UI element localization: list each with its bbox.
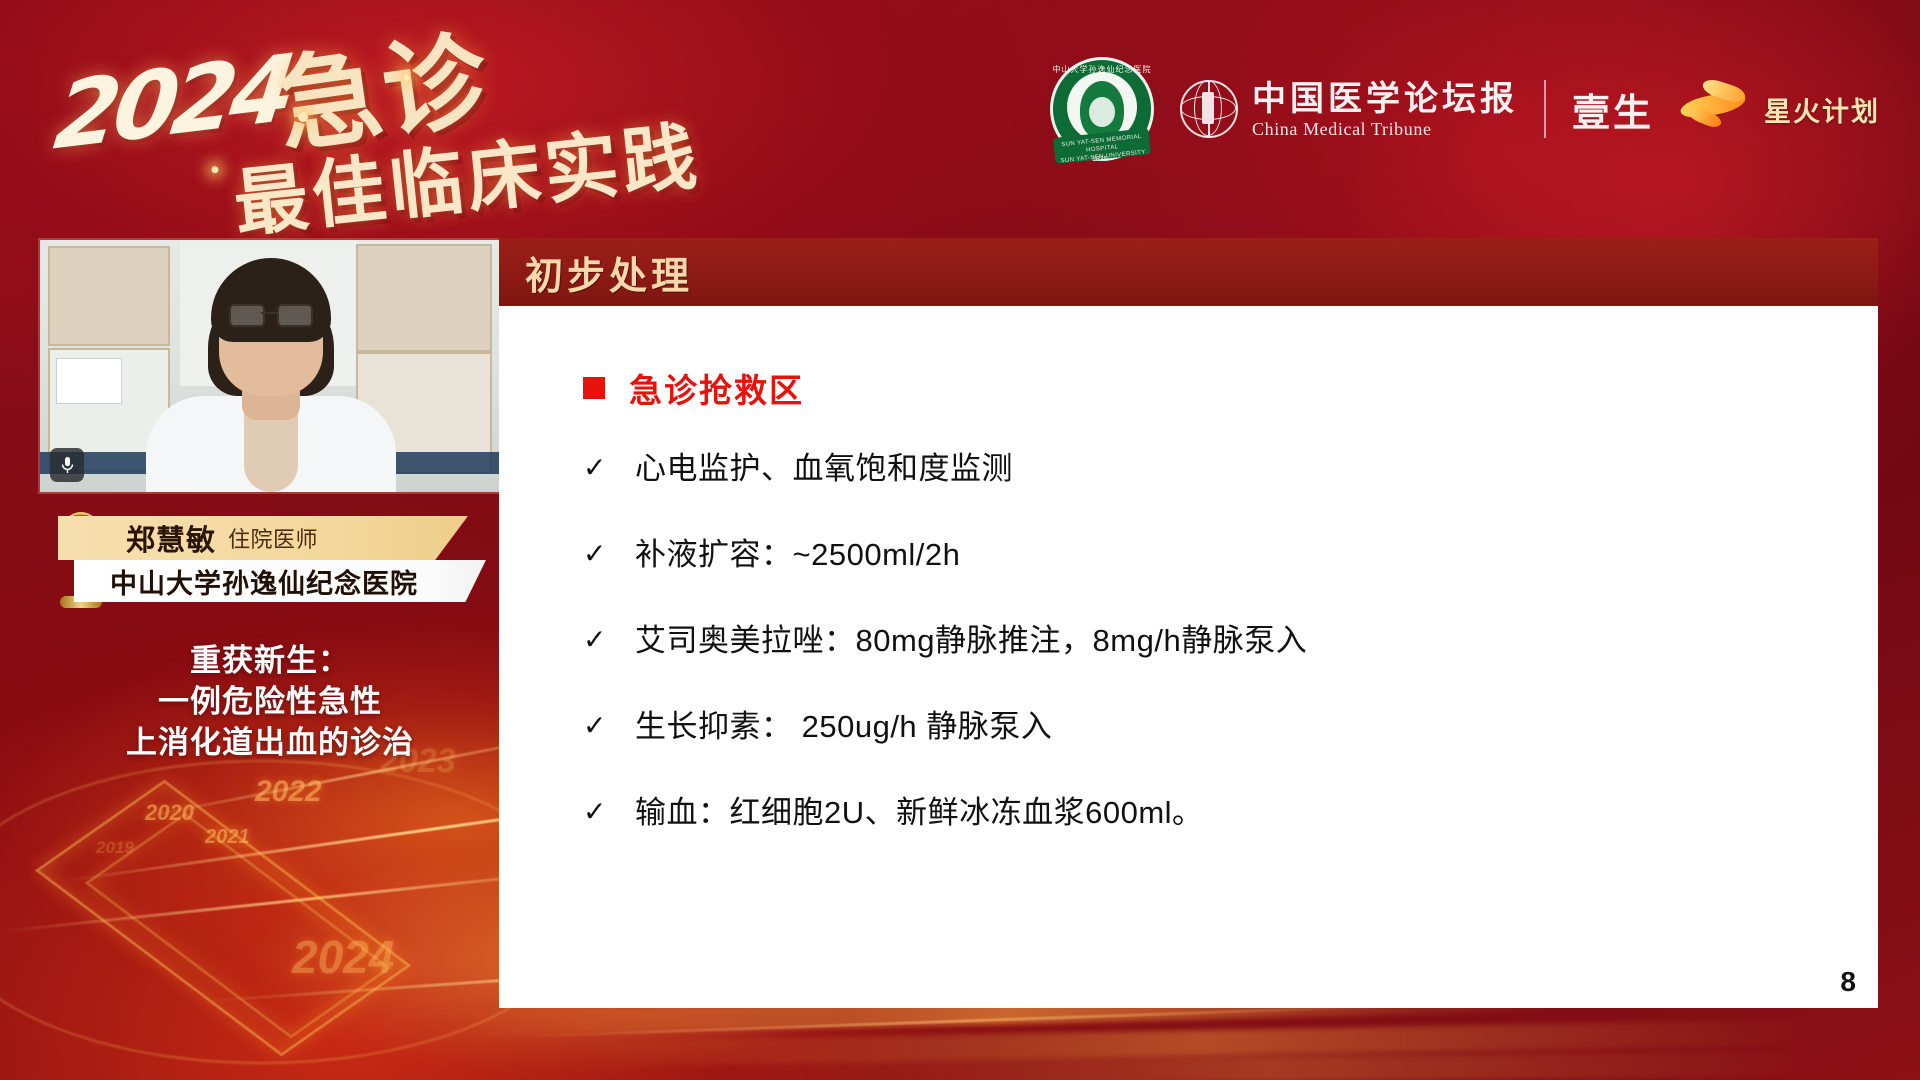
year-mark-2021: 2021	[205, 826, 250, 849]
year-mark-2024: 2024	[292, 930, 394, 984]
list-item-text: 输血：红细胞2U、新鲜冰冻血浆600ml。	[635, 794, 1204, 832]
year-mark-2022: 2022	[255, 775, 322, 809]
speaker-figure	[146, 282, 396, 492]
list-item-text: 补液扩容：~2500ml/2h	[635, 536, 960, 574]
speaker-hospital-plate: 中山大学孙逸仙纪念医院	[74, 560, 486, 602]
key-visual-logo: 2024 急诊 最佳临床实践	[42, 0, 734, 237]
slide-page-number: 8	[1840, 966, 1856, 998]
slide-content: 急诊抢救区 ✓ 心电监护、血氧饱和度监测 ✓ 补液扩容：~2500ml/2h ✓…	[499, 306, 1878, 1008]
partner-logo-cluster: 中山大学孙逸仙纪念医院 SUN YAT-SEN MEMORIAL HOSPITA…	[1050, 56, 1880, 162]
list-item: ✓ 生长抑素： 250ug/h 静脉泵入	[583, 708, 1838, 746]
xinghuo-plan-logo: 星火计划	[1680, 81, 1880, 137]
list-item: ✓ 艾司奥美拉唑：80mg静脉推注，8mg/h静脉泵入	[583, 622, 1838, 660]
list-item-text: 心电监护、血氧饱和度监测	[635, 450, 1013, 488]
china-medical-tribune-logo: 中国医学论坛报 China Medical Tribune	[1180, 79, 1518, 140]
slide-section-heading: 急诊抢救区	[583, 364, 1838, 412]
checkmark-icon: ✓	[583, 794, 609, 830]
speaker-video-feed[interactable]	[40, 240, 502, 492]
list-item-text: 艾司奥美拉唑：80mg静脉推注，8mg/h静脉泵入	[635, 622, 1307, 660]
square-bullet-icon	[583, 377, 605, 399]
slide-section-label: 急诊抢救区	[629, 364, 804, 412]
microphone-icon[interactable]	[50, 448, 84, 482]
checkmark-icon: ✓	[583, 450, 609, 486]
globe-icon	[1180, 80, 1238, 138]
speaker-name: 郑慧敏	[126, 517, 216, 559]
yisheng-logo: 壹生	[1572, 82, 1654, 137]
year-mark-2019: 2019	[96, 838, 134, 858]
list-item: ✓ 输血：红细胞2U、新鲜冰冻血浆600ml。	[583, 794, 1838, 832]
slide-header-bar: 初步处理	[499, 238, 1878, 306]
checkmark-icon: ✓	[583, 622, 609, 658]
flying-bird-icon	[1680, 81, 1754, 137]
speaker-name-plate: 郑慧敏 住院医师	[58, 516, 468, 560]
list-item-text: 生长抑素： 250ug/h 静脉泵入	[635, 708, 1052, 746]
cmt-name-cn: 中国医学论坛报	[1252, 79, 1518, 119]
xinghuo-label: 星火计划	[1764, 90, 1880, 129]
talk-title-line1: 重获新生：	[40, 640, 500, 681]
speaker-role: 住院医师	[228, 522, 318, 554]
logo-divider	[1544, 80, 1546, 138]
presentation-slide[interactable]: 初步处理 急诊抢救区 ✓ 心电监护、血氧饱和度监测 ✓ 补液扩容：~2500ml…	[499, 238, 1878, 1008]
sparkle-icon	[211, 166, 218, 173]
slide-header-title: 初步处理	[525, 245, 693, 300]
seal-year-text: 1835	[1092, 156, 1108, 163]
list-item: ✓ 补液扩容：~2500ml/2h	[583, 536, 1838, 574]
cmt-name-en: China Medical Tribune	[1252, 119, 1518, 140]
speaker-hospital: 中山大学孙逸仙纪念医院	[110, 562, 418, 601]
talk-title: 重获新生： 一例危险性急性 上消化道出血的诊治	[40, 640, 500, 763]
checkmark-icon: ✓	[583, 536, 609, 572]
talk-title-line2: 一例危险性急性	[40, 681, 500, 722]
talk-title-line3: 上消化道出血的诊治	[40, 722, 500, 763]
list-item: ✓ 心电监护、血氧饱和度监测	[583, 450, 1838, 488]
sun-yat-sen-hospital-seal-icon: 中山大学孙逸仙纪念医院 SUN YAT-SEN MEMORIAL HOSPITA…	[1050, 57, 1154, 161]
year-mark-2020: 2020	[145, 800, 194, 826]
masthead: 2024 急诊 最佳临床实践 中山大学孙逸仙纪念医院 SUN YAT-SEN M…	[0, 0, 1920, 225]
checkmark-icon: ✓	[583, 708, 609, 744]
